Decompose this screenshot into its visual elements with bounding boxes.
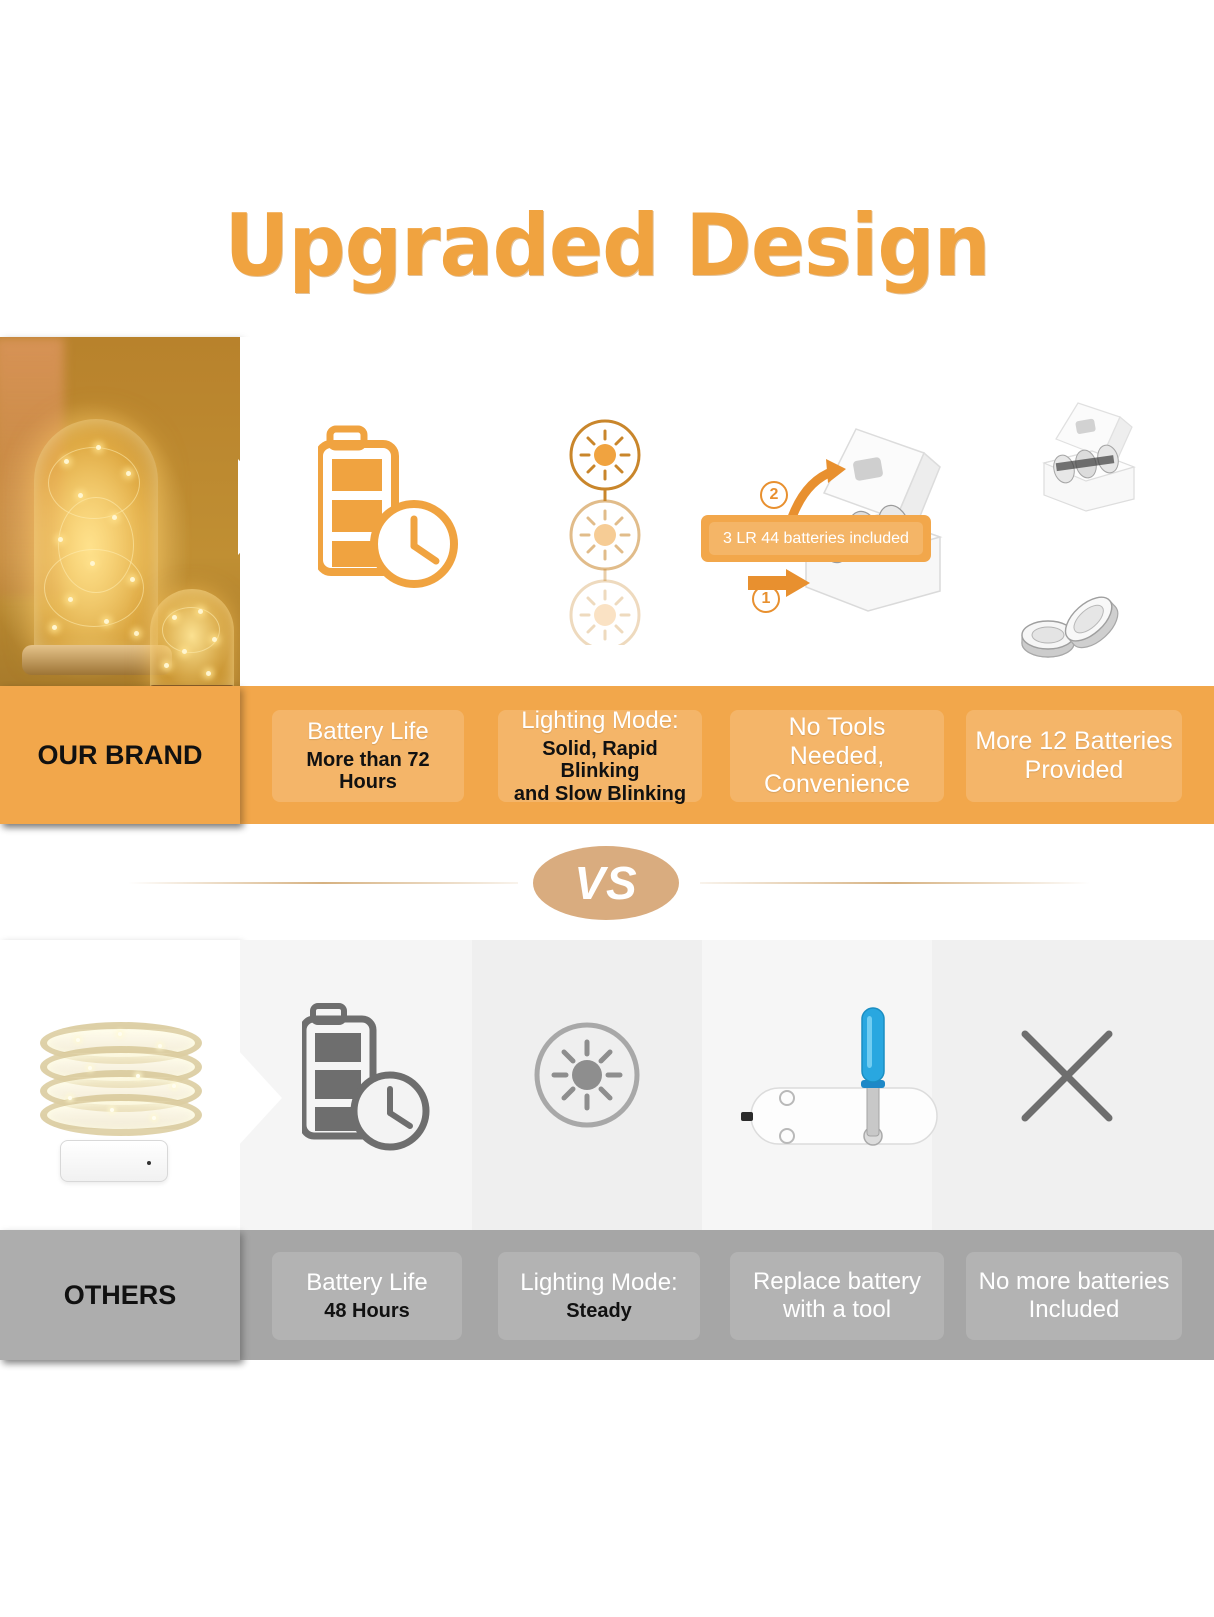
lr44-callout-text: 3 LR 44 batteries included (723, 530, 909, 548)
divider-line-left (128, 882, 518, 884)
lighting-modes-icon (560, 415, 650, 645)
page-title: Upgraded Design (42, 196, 1171, 296)
others-cell-head: No more batteries Included (979, 1268, 1170, 1323)
brand-cell-head: Lighting Mode: (521, 707, 678, 735)
cross-x-icon (1017, 1026, 1117, 1126)
others-cell-head: Battery Life (306, 1269, 427, 1297)
others-cell-replace-battery: Replace battery with a tool (730, 1252, 944, 1340)
infographic-page: Upgraded Design (0, 0, 1214, 1617)
others-icon-strip (240, 940, 1214, 1230)
others-label-row: Battery Life 48 Hours Lighting Mode: Ste… (240, 1230, 1214, 1360)
others-cell-head: Replace battery with a tool (753, 1268, 921, 1323)
brand-cell-battery-life: Battery Life More than 72 Hours (272, 710, 464, 802)
lr44-callout-badge: 3 LR 44 batteries included (701, 515, 931, 562)
others-cell-sub: Steady (566, 1300, 632, 1323)
others-section: Battery Life 48 Hours Lighting Mode: Ste… (0, 940, 1214, 1360)
step-2-badge: 2 (760, 481, 788, 509)
coin-cell-batteries-icon (1002, 587, 1132, 667)
brand-cell-sub: More than 72 Hours (280, 749, 456, 794)
glass-dome-lamp-small (150, 589, 234, 693)
others-cell-battery-life: Battery Life 48 Hours (272, 1252, 462, 1340)
others-cell-sub: 48 Hours (324, 1300, 410, 1323)
vs-badge: VS (533, 846, 679, 920)
vs-divider: VS (0, 828, 1214, 938)
others-cell-no-batteries: No more batteries Included (966, 1252, 1182, 1340)
brand-name-cell: OUR BRAND (0, 686, 240, 824)
brand-name-label: OUR BRAND (38, 740, 203, 771)
batteries-provided-icon (992, 395, 1162, 515)
battery-pack (60, 1140, 168, 1182)
brand-cell-sub: Solid, Rapid Blinking and Slow Blinking (506, 738, 694, 805)
others-cell-head: Lighting Mode: (520, 1269, 677, 1297)
others-name-cell: OTHERS (0, 1230, 240, 1360)
brand-label-row: Battery Life More than 72 Hours Lighting… (240, 686, 1214, 824)
others-cell-lighting-mode: Lighting Mode: Steady (498, 1252, 700, 1340)
single-sun-gray-icon (532, 1020, 642, 1130)
brand-cell-no-tools: No Tools Needed, Convenience (730, 710, 944, 802)
battery-clock-icon (318, 425, 458, 590)
vs-label: VS (574, 856, 637, 910)
our-brand-section: 2 1 (0, 337, 1214, 824)
glass-dome-lamp-large (34, 419, 158, 655)
others-name-label: OTHERS (64, 1280, 177, 1311)
screwdriver-battery-icon (737, 988, 957, 1158)
brand-cell-head: More 12 Batteries Provided (975, 727, 1172, 785)
brand-cell-head: Battery Life (307, 718, 428, 746)
step-1-badge: 1 (752, 585, 780, 613)
brand-cell-batteries-provided: More 12 Batteries Provided (966, 710, 1182, 802)
wire-coil (40, 1022, 202, 1140)
brand-icon-strip: 2 1 (240, 337, 1214, 686)
brand-cell-lighting-mode: Lighting Mode: Solid, Rapid Blinking and… (498, 710, 702, 802)
battery-clock-gray-icon (302, 1002, 432, 1152)
divider-line-right (700, 882, 1090, 884)
brand-cell-head: No Tools Needed, Convenience (738, 713, 936, 799)
